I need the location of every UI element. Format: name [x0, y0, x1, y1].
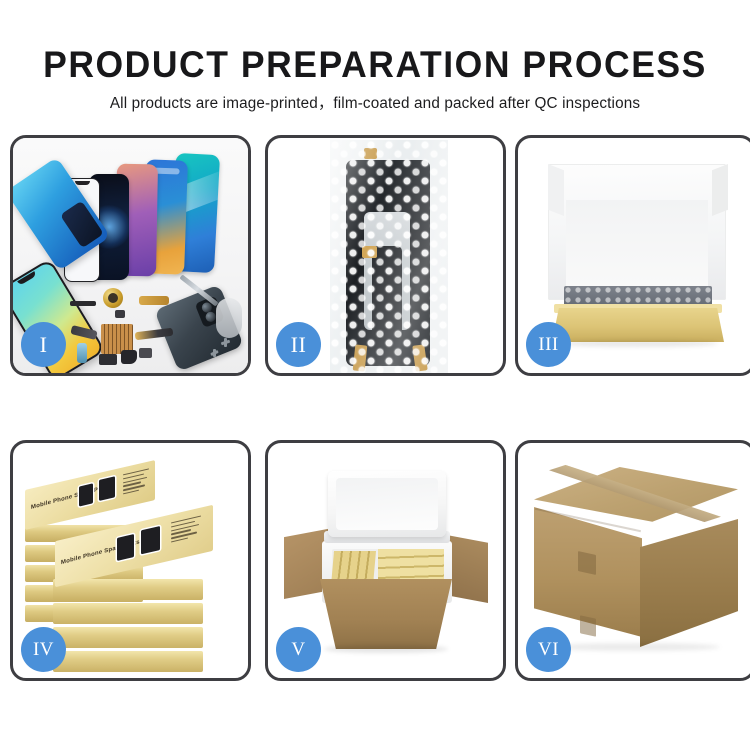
lid-left-flap: [548, 164, 564, 216]
step-panel-1: I: [10, 135, 251, 376]
camera-module-part: [121, 350, 137, 364]
chip-part-h: [115, 310, 125, 318]
header: PRODUCT PREPARATION PROCESS All products…: [0, 0, 750, 113]
chip-part-g: [139, 348, 152, 358]
lid-right-flap: [712, 164, 728, 216]
carton-front-panel: [320, 579, 452, 649]
flex-cable-a: [139, 296, 169, 305]
chip-part-e: [99, 354, 117, 365]
plastic-sheen: [330, 140, 448, 373]
foam-insert-lid: [328, 471, 446, 537]
white-box-lid: [548, 164, 726, 300]
screw-part-2: [210, 349, 218, 357]
top-box-left-face: Mobile Phone Spare Parts: [25, 460, 155, 530]
carton-right-face: [640, 519, 738, 647]
vibration-motor-part: [103, 288, 123, 308]
box-screen-print-r1: [117, 534, 134, 561]
step-badge-6: VI: [526, 627, 571, 672]
product-preparation-infographic: PRODUCT PREPARATION PROCESS All products…: [0, 0, 750, 750]
process-row-top: I II: [10, 135, 750, 376]
step-badge-5: V: [276, 627, 321, 672]
process-row-bottom: Mobile Phone Spare Parts Mobile Phone Sp…: [10, 440, 750, 681]
step-badge-1: I: [21, 322, 66, 367]
box-screen-print-l1: [79, 483, 93, 506]
yellow-box-base: [552, 308, 724, 342]
step-panel-4: Mobile Phone Spare Parts Mobile Phone Sp…: [10, 440, 251, 681]
carton-tab-lower: [580, 615, 596, 636]
step-badge-4: IV: [21, 627, 66, 672]
carton-shadow: [552, 643, 720, 651]
open-box-group: [540, 158, 736, 354]
step-panel-6: VI: [515, 440, 750, 681]
small-connector-part: [77, 343, 87, 363]
sealed-carton-group: [532, 467, 740, 653]
page-title: PRODUCT PREPARATION PROCESS: [15, 45, 735, 85]
box-screen-print-l2: [99, 476, 115, 501]
step-panel-5: V: [265, 440, 506, 681]
box-spec-lines-right: [171, 516, 201, 546]
white-part-plate: [216, 298, 242, 338]
screw-part-1: [221, 338, 230, 347]
step-badge-2: II: [276, 322, 321, 367]
step-panel-3: III: [515, 135, 750, 376]
process-step-grid: I II: [10, 135, 750, 681]
step-badge-3: III: [526, 322, 571, 367]
step-panel-2: II: [265, 135, 506, 376]
bubble-wrap-bag: [330, 140, 448, 373]
earpiece-speaker-part: [70, 301, 96, 306]
box-shadow: [558, 340, 718, 347]
carton-shadow: [324, 645, 448, 653]
page-subtitle: All products are image-printed，film-coat…: [6, 95, 745, 113]
box-screen-print-r2: [141, 526, 160, 554]
carton-tab-upper: [578, 551, 596, 575]
box-spec-lines-left: [123, 468, 149, 497]
